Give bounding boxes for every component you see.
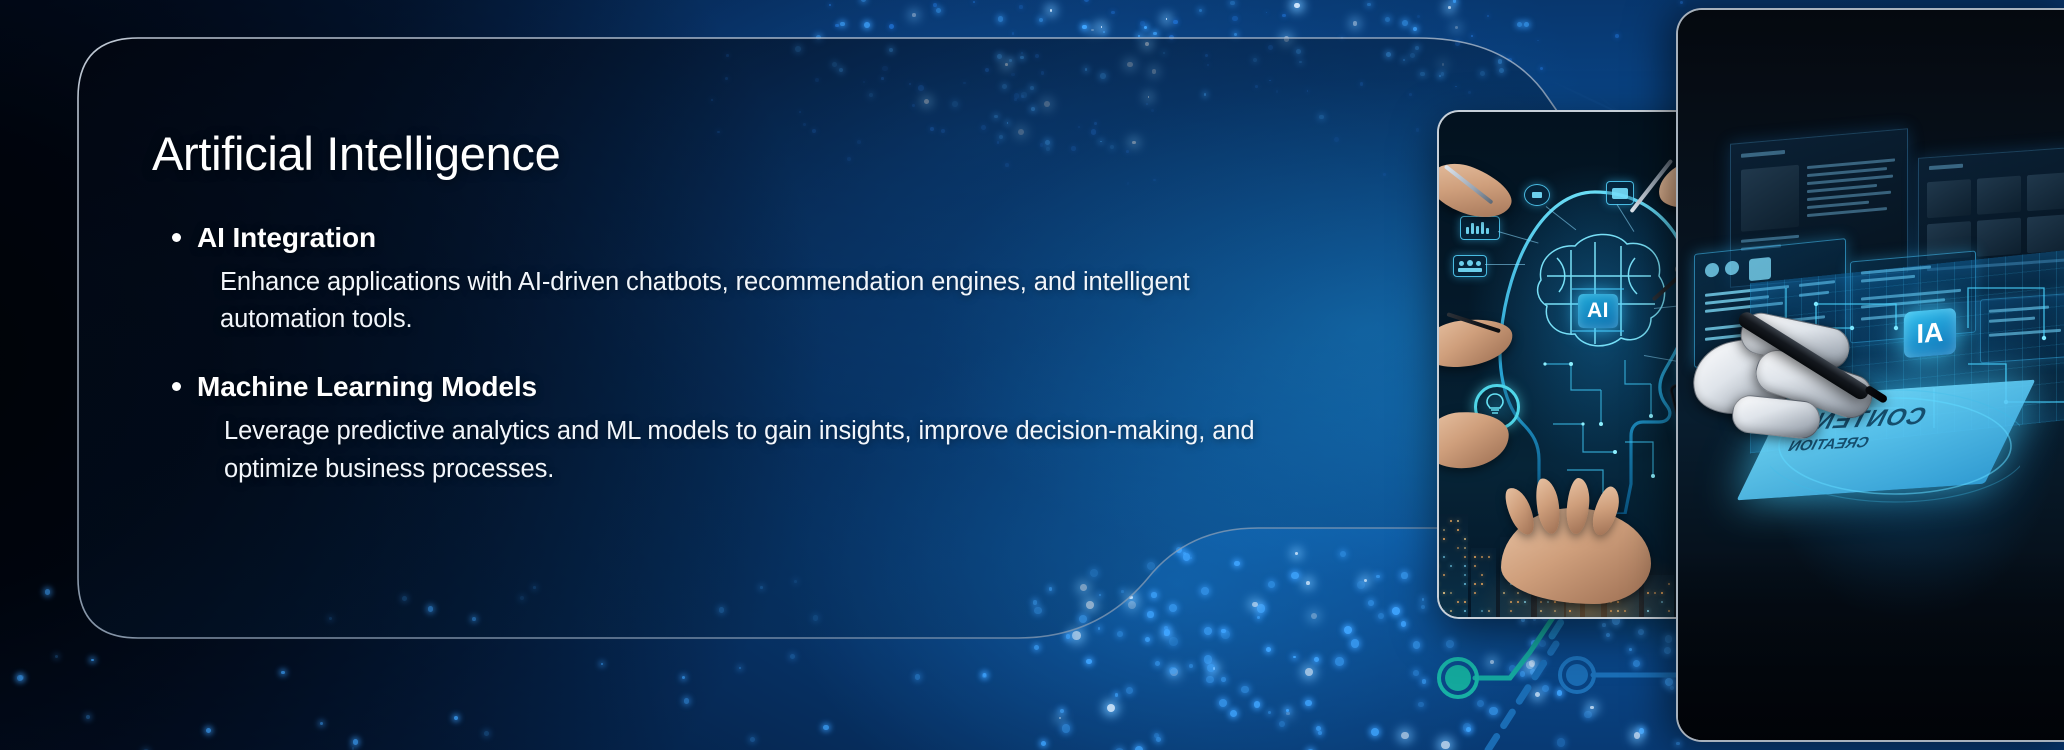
particle xyxy=(352,747,354,749)
chart-chip-icon xyxy=(1460,216,1500,240)
particle xyxy=(835,24,838,27)
particle xyxy=(1680,1,1683,4)
particle xyxy=(86,715,91,720)
particle xyxy=(1279,721,1285,727)
particle xyxy=(1084,0,1089,2)
particle xyxy=(1286,712,1289,715)
particle xyxy=(1367,3,1371,7)
particle xyxy=(1103,31,1105,33)
list-item: AI Integration Enhance applications with… xyxy=(150,222,1270,339)
particle xyxy=(353,739,358,744)
particle xyxy=(1041,741,1046,746)
feature-list: AI Integration Enhance applications with… xyxy=(150,222,1270,489)
particle xyxy=(1448,6,1451,9)
particle xyxy=(1455,26,1459,30)
particle xyxy=(206,728,211,733)
robot-chip-icon xyxy=(1606,181,1634,205)
circuit-node-core xyxy=(1566,664,1588,686)
list-item: Machine Learning Models Leverage predict… xyxy=(150,371,1270,488)
robotic-hand-ia-photo: IA CO xyxy=(1676,8,2064,742)
particle xyxy=(1138,35,1140,37)
network-chip-icon xyxy=(1524,184,1550,206)
particle xyxy=(17,675,23,681)
particle xyxy=(1402,20,1408,26)
particle xyxy=(1417,15,1420,18)
panel-text-content: Artificial Intelligence AI Integration E… xyxy=(150,128,1270,521)
bullet-heading-row: AI Integration xyxy=(172,222,1270,254)
particle xyxy=(1082,25,1086,29)
bullet-title: AI Integration xyxy=(197,222,376,254)
particle xyxy=(1282,14,1286,18)
particle xyxy=(1059,717,1061,719)
bullet-dot-icon xyxy=(172,382,181,391)
ai-chip-label: AI xyxy=(1578,294,1618,328)
particle xyxy=(933,3,937,7)
particle xyxy=(1353,21,1357,25)
particle xyxy=(998,16,1004,22)
particle xyxy=(1453,0,1456,3)
particle xyxy=(750,737,755,742)
particle xyxy=(840,22,844,26)
particle xyxy=(1230,1,1235,6)
particle xyxy=(1019,5,1022,8)
particle xyxy=(1144,26,1147,29)
particle xyxy=(1166,18,1168,20)
particle xyxy=(1268,711,1271,714)
particle xyxy=(1230,710,1237,717)
particle xyxy=(1111,11,1115,15)
particle xyxy=(1487,15,1489,17)
particle xyxy=(45,589,51,595)
particle xyxy=(1294,3,1299,8)
particle xyxy=(1524,22,1529,27)
bullet-title: Machine Learning Models xyxy=(197,371,537,403)
particle xyxy=(1050,9,1053,12)
particle xyxy=(864,22,870,28)
particle xyxy=(936,8,942,14)
particle xyxy=(1107,704,1115,712)
particle xyxy=(861,0,866,2)
particle xyxy=(1012,32,1015,35)
particle xyxy=(1039,18,1044,23)
particle xyxy=(320,722,323,725)
particle xyxy=(1254,701,1261,708)
particle xyxy=(1156,737,1161,742)
bullet-heading-row: Machine Learning Models xyxy=(172,371,1270,403)
particle xyxy=(1305,700,1312,707)
bullet-dot-icon xyxy=(172,233,181,242)
particle xyxy=(1266,12,1268,14)
particle xyxy=(1062,724,1070,732)
content-panel: Artificial Intelligence AI Integration E… xyxy=(78,38,1638,698)
particle xyxy=(912,13,916,17)
slide-canvas: Artificial Intelligence AI Integration E… xyxy=(0,0,2064,750)
particle xyxy=(1234,33,1237,36)
particle xyxy=(55,655,59,659)
particle xyxy=(684,698,689,703)
circuit-node-core xyxy=(1445,665,1471,691)
lightbulb-icon xyxy=(1485,393,1505,415)
particle xyxy=(454,716,458,720)
particle xyxy=(1219,699,1227,707)
particle xyxy=(1199,9,1202,12)
particle xyxy=(1140,21,1144,25)
particle xyxy=(1153,32,1156,35)
people-chip-icon xyxy=(1453,255,1487,277)
page-title: Artificial Intelligence xyxy=(152,128,1270,180)
particle xyxy=(973,1,975,3)
particle xyxy=(1413,27,1417,31)
particle xyxy=(484,731,489,736)
particle xyxy=(1316,726,1321,731)
particle xyxy=(1060,709,1064,713)
particle xyxy=(1091,29,1094,32)
bullet-body: Enhance applications with AI-driven chat… xyxy=(220,264,1270,339)
particle xyxy=(1232,16,1238,22)
particle xyxy=(1154,733,1159,738)
particle xyxy=(1371,728,1379,736)
particle xyxy=(889,24,894,29)
bullet-body: Leverage predictive analytics and ML mod… xyxy=(224,413,1270,488)
particle xyxy=(1471,35,1473,37)
particle xyxy=(1318,731,1322,735)
particle xyxy=(823,725,828,730)
circuit-decoration xyxy=(1380,600,1720,750)
particle xyxy=(1286,709,1289,712)
circuit-traces xyxy=(1380,600,1720,750)
particle xyxy=(829,4,831,6)
particle xyxy=(1173,20,1178,25)
particle xyxy=(1135,746,1143,750)
particle xyxy=(1101,26,1103,28)
particle xyxy=(1385,17,1390,22)
particle xyxy=(19,675,25,681)
particle xyxy=(1517,22,1522,27)
